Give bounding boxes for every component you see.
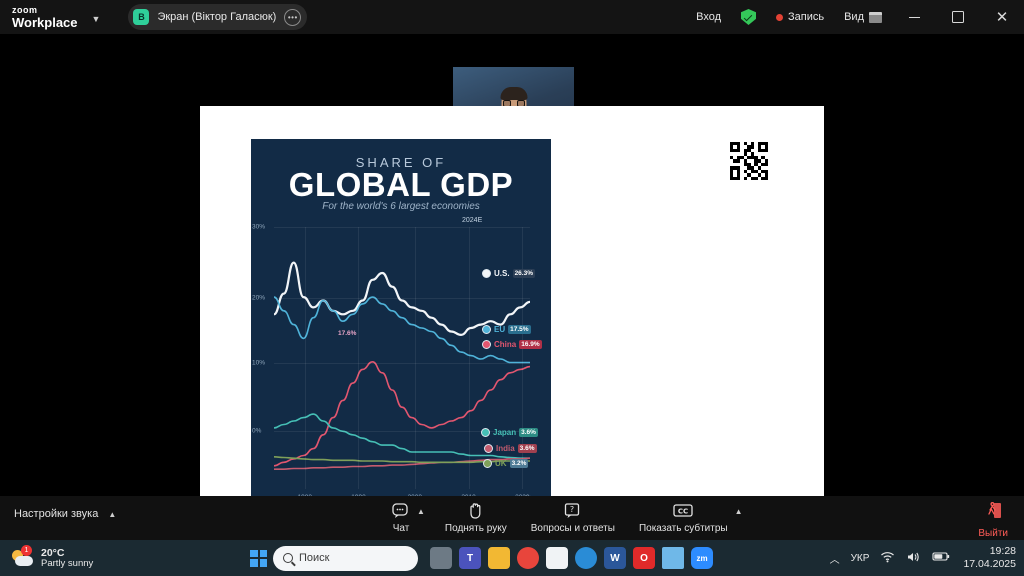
file-explorer-icon[interactable] — [488, 547, 510, 569]
chat-label: Чат — [393, 523, 410, 534]
windows-taskbar: 1 20°C Partly sunny Поиск TWOzm ︿ УКР — [0, 540, 1024, 576]
share-label: Экран (Віктор Галасюк) — [157, 11, 276, 23]
notification-badge: 1 — [21, 545, 32, 556]
legend-series-value: 26.3% — [513, 269, 535, 278]
windows-start-icon[interactable] — [250, 550, 267, 567]
svg-text:CC: CC — [678, 508, 688, 516]
captions-label: Показать субтитры — [639, 523, 728, 534]
close-icon[interactable]: ✕ — [980, 0, 1024, 34]
encryption-status[interactable] — [731, 0, 766, 34]
task-view-icon[interactable] — [430, 547, 452, 569]
svg-text:?: ? — [570, 505, 574, 514]
share-avatar-badge: В — [133, 9, 149, 25]
legend-series-name: EU — [494, 325, 505, 334]
search-placeholder: Поиск — [299, 552, 329, 564]
chat-button[interactable]: Чат — [388, 499, 414, 534]
y-axis-tick-label: 20% — [252, 294, 265, 301]
legend-series-value: 16.9% — [519, 340, 541, 349]
qa-button[interactable]: ? Вопросы и ответы — [527, 499, 619, 534]
gridline-vertical — [305, 227, 306, 489]
zoom-bottom-toolbar: Настройки звука ▲ Чат — [0, 496, 1024, 540]
speaker-icon[interactable] — [906, 551, 921, 566]
search-icon — [283, 553, 293, 563]
leave-meeting-button[interactable]: Выйти — [970, 499, 1016, 539]
chart-subtitle: For the world's 6 largest economies — [251, 201, 551, 212]
taskbar-app-icons: TWOzm — [430, 547, 713, 569]
clock-time: 19:28 — [963, 545, 1016, 558]
audio-settings-label: Настройки звука — [14, 508, 98, 520]
captions-button[interactable]: CC Показать субтитры — [635, 499, 732, 534]
toolbar-center-actions: Чат ▲ Поднять руку ? — [388, 499, 743, 534]
legend-series-name: Japan — [493, 428, 516, 437]
gridline-vertical — [469, 227, 470, 489]
legend-series-name: China — [494, 340, 516, 349]
audio-settings-button[interactable]: Настройки звука ▲ — [14, 508, 116, 520]
legend-series-value: 17.5% — [508, 325, 530, 334]
legend-series-name: India — [496, 444, 515, 453]
question-bubble-icon: ? — [564, 501, 581, 520]
zoom-logo: zoom Workplace — [12, 6, 78, 29]
closed-caption-icon: CC — [673, 501, 693, 520]
us-flag-icon — [482, 269, 491, 278]
raise-hand-label: Поднять руку — [445, 523, 507, 534]
qa-label: Вопросы и ответы — [531, 523, 615, 534]
recording-indicator[interactable]: Запись — [766, 0, 834, 34]
y-axis-tick-label: 10% — [252, 360, 265, 367]
jp-flag-icon — [481, 428, 490, 437]
exit-door-icon — [983, 501, 1003, 525]
zoom-icon[interactable]: zm — [691, 547, 713, 569]
partly-sunny-icon: 1 — [12, 549, 34, 567]
layout-grid-icon — [869, 12, 882, 23]
sign-in-button[interactable]: Вход — [686, 0, 731, 34]
legend-item: U.S.26.3% — [482, 269, 535, 278]
eu-flag-icon — [482, 325, 491, 334]
leave-label: Выйти — [978, 528, 1008, 539]
taskbar-weather-widget[interactable]: 1 20°C Partly sunny — [12, 547, 93, 570]
legend-series-value: 3.2% — [510, 459, 529, 468]
opera-icon[interactable]: O — [633, 547, 655, 569]
mail-icon[interactable] — [662, 547, 684, 569]
shared-screen-content[interactable]: SHARE OF GLOBAL GDP For the world's 6 la… — [200, 106, 824, 496]
weather-temperature: 20°C — [41, 547, 93, 559]
legend-series-name: U.S. — [494, 269, 510, 278]
cn-flag-icon — [482, 340, 491, 349]
view-button[interactable]: Вид — [834, 0, 892, 34]
maximize-icon[interactable] — [936, 0, 980, 34]
legend-series-value: 3.6% — [519, 428, 538, 437]
gridline-horizontal — [274, 227, 530, 228]
raise-hand-button[interactable]: Поднять руку — [441, 499, 511, 534]
view-label: Вид — [844, 11, 864, 23]
title-bar-right-controls: Вход Запись Вид ✕ — [686, 0, 1024, 34]
chevron-up-icon[interactable]: ▲ — [735, 507, 743, 516]
wifi-icon[interactable] — [880, 551, 895, 566]
legend-item: EU17.5% — [482, 325, 531, 334]
taskbar-start-and-search: Поиск — [250, 546, 418, 571]
uk-flag-icon — [483, 459, 492, 468]
legend-item: India3.6% — [484, 444, 537, 453]
gridline-horizontal — [274, 363, 530, 364]
weather-description: Partly sunny — [41, 559, 93, 570]
hand-icon — [468, 501, 484, 520]
qr-code-icon — [728, 140, 770, 182]
chart-year-annotation: 2024E — [462, 217, 482, 224]
minimize-icon[interactable] — [892, 0, 936, 34]
clock-date: 17.04.2025 — [963, 558, 1016, 571]
edge-icon[interactable] — [575, 547, 597, 569]
gridline-horizontal — [274, 298, 530, 299]
global-gdp-infographic: SHARE OF GLOBAL GDP For the world's 6 la… — [251, 139, 551, 529]
legend-item: Japan3.6% — [481, 428, 538, 437]
zoom-logo-line2: Workplace — [12, 16, 78, 29]
teams-icon[interactable]: T — [459, 547, 481, 569]
chart-title-large: GLOBAL GDP — [251, 166, 551, 204]
chevron-down-icon[interactable]: ▼ — [92, 14, 101, 24]
captions-group: CC Показать субтитры ▲ — [635, 499, 743, 534]
sign-in-label: Вход — [696, 11, 721, 23]
language-indicator[interactable]: УКР — [851, 553, 870, 564]
shield-check-icon — [741, 9, 756, 25]
legend-item: UK3.2% — [483, 459, 528, 468]
chevron-up-icon[interactable]: ▲ — [108, 510, 116, 519]
zoom-logo-line1: zoom — [12, 6, 78, 15]
screen-share-indicator[interactable]: В Экран (Віктор Галасюк) ••• — [128, 4, 307, 30]
taskbar-clock[interactable]: 19:28 17.04.2025 — [963, 545, 1016, 570]
microsoft-store-icon[interactable] — [546, 547, 568, 569]
battery-icon[interactable] — [932, 551, 950, 565]
meeting-stage: Віктор Галасюк SHARE OF GLOBAL GDP For t… — [0, 34, 1024, 496]
system-tray: ︿ УКР — [830, 545, 1016, 570]
record-dot-icon — [776, 14, 783, 21]
chart-peak-annotation: 17.6% — [338, 330, 356, 337]
legend-item: China16.9% — [482, 340, 542, 349]
ellipsis-icon[interactable]: ••• — [284, 9, 301, 26]
zoom-title-bar: zoom Workplace ▼ В Экран (Віктор Галасюк… — [0, 0, 1024, 34]
y-axis-tick-label: 30% — [252, 224, 265, 231]
chat-bubble-icon — [392, 501, 410, 520]
chrome-icon[interactable] — [517, 547, 539, 569]
y-axis-tick-label: 0% — [252, 428, 261, 435]
in-flag-icon — [484, 444, 493, 453]
zoom-meeting-window: zoom Workplace ▼ В Экран (Віктор Галасюк… — [0, 0, 1024, 576]
chat-group: Чат ▲ — [388, 499, 425, 534]
legend-series-value: 3.6% — [518, 444, 537, 453]
search-input[interactable]: Поиск — [273, 546, 418, 571]
legend-series-name: UK — [495, 459, 507, 468]
gridline-vertical — [358, 227, 359, 489]
recording-label: Запись — [788, 11, 824, 23]
word-icon[interactable]: W — [604, 547, 626, 569]
chevron-up-icon[interactable]: ▲ — [417, 507, 425, 516]
chevron-up-icon[interactable]: ︿ — [830, 551, 840, 566]
gridline-vertical — [415, 227, 416, 489]
